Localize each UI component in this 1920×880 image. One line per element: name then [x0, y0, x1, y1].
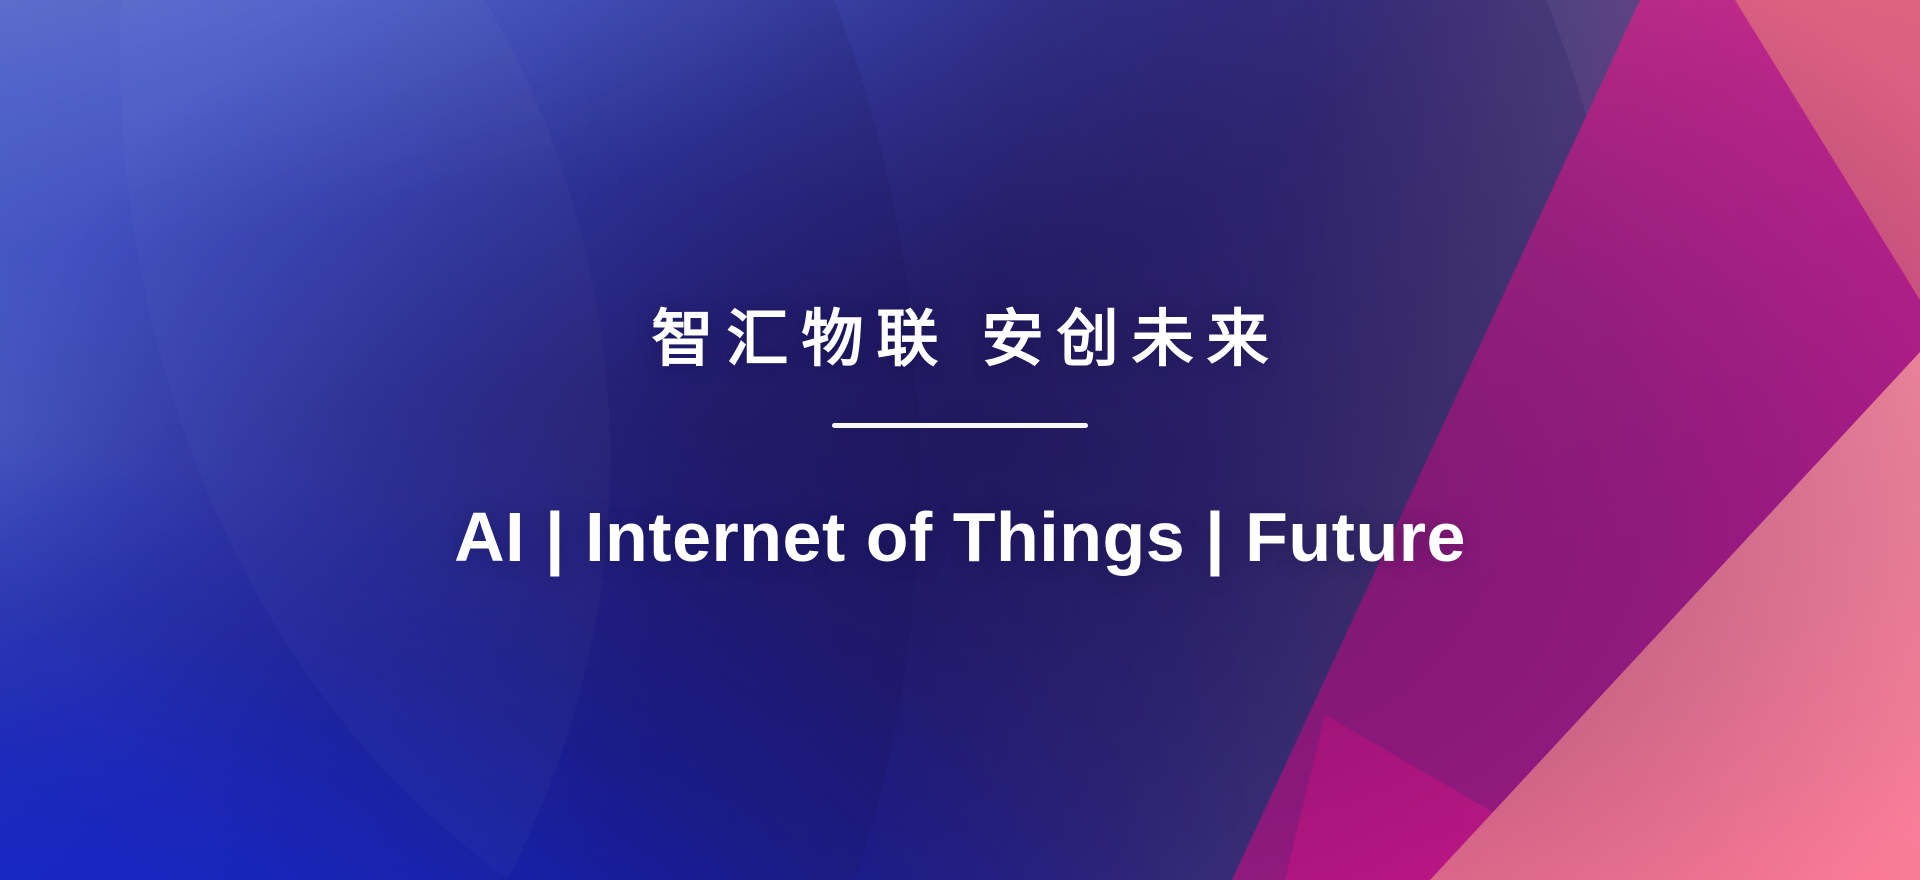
headline-chinese: 智汇物联 安创未来	[638, 309, 1281, 371]
headline-divider	[832, 423, 1088, 428]
headline-english: AI | Internet of Things | Future	[454, 502, 1466, 572]
banner-content: 智汇物联 安创未来 AI | Internet of Things | Futu…	[0, 0, 1920, 880]
hero-banner: 智汇物联 安创未来 AI | Internet of Things | Futu…	[0, 0, 1920, 880]
